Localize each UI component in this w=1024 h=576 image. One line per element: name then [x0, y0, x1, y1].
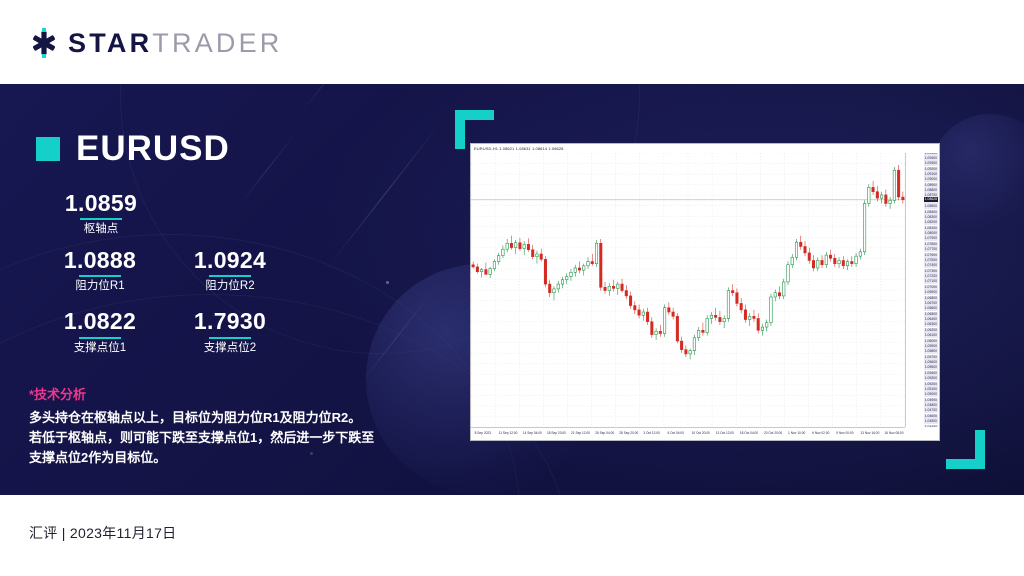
chart-price-axis[interactable]: 1.095001.094001.093001.092001.091001.090…: [905, 153, 939, 427]
level-r2-rule: [209, 275, 251, 277]
price-axis-tick: 1.09200: [924, 167, 938, 172]
level-r1-value: 1.0888: [40, 247, 160, 273]
time-axis-tick: 9 Nov 00:00: [836, 431, 853, 436]
level-s2-label: 支撑点位2: [170, 342, 290, 356]
price-axis-tick: 1.05200: [924, 382, 938, 387]
price-axis-tick: 1.07300: [924, 269, 938, 274]
analysis-line-3: 支撑点位2作为目标位。: [29, 448, 409, 468]
price-axis-tick: 1.05000: [924, 392, 938, 397]
price-axis-tick: 1.08200: [924, 220, 938, 225]
time-axis-tick: 13 Oct 12:00: [716, 431, 734, 436]
time-axis-tick: 14 Sep 04:00: [523, 431, 542, 436]
price-axis-tick: 1.05800: [924, 349, 938, 354]
price-axis-tick: 1.06000: [924, 339, 938, 344]
time-axis-tick: 3 Oct 12:00: [643, 431, 659, 436]
time-axis-tick: 18 Sep 20:00: [547, 431, 566, 436]
time-axis-tick: 20 Oct 20:00: [764, 431, 782, 436]
analysis-line-1: 多头持仓在枢轴点以上，目标位为阻力位R1及阻力位R2。: [29, 408, 409, 428]
level-r2: 1.0924 阻力位R2: [170, 247, 290, 294]
level-pivot: 1.0859 枢轴点: [55, 190, 147, 237]
price-axis-tick: 1.05600: [924, 360, 938, 365]
analysis-line-2: 若低于枢轴点，则可能下跌至支撑点位1，然后进一步下跌至: [29, 428, 409, 448]
level-r1: 1.0888 阻力位R1: [40, 247, 160, 294]
level-r2-label: 阻力位R2: [170, 280, 290, 294]
price-axis-tick: 1.06300: [924, 322, 938, 327]
level-s1: 1.0822 支撑点位1: [40, 308, 160, 355]
price-axis-tick: 1.06900: [924, 290, 938, 295]
price-axis-tick: 1.08300: [924, 215, 938, 220]
info-column: EURUSD 1.0859 枢轴点 1.0888 阻力位R1 1.0924 阻力…: [0, 84, 430, 495]
level-pivot-rule: [80, 218, 122, 220]
instrument-symbol: EURUSD: [76, 131, 230, 166]
levels-grid: 1.0888 阻力位R1 1.0924 阻力位R2 1.0822 支撑点位1: [40, 247, 290, 369]
price-axis-tick: 1.06400: [924, 317, 938, 322]
price-axis-tick: 1.04400: [924, 425, 938, 428]
footer-caption: 汇评 | 2023年11月17日: [29, 523, 176, 543]
price-axis-tick: 1.05400: [924, 371, 938, 376]
time-axis-tick: 21 Sep 12:00: [571, 431, 590, 436]
brand-name-light: TRADER: [152, 28, 282, 58]
technical-analysis: *技术分析 多头持仓在枢轴点以上，目标位为阻力位R1及阻力位R2。 若低于枢轴点…: [29, 384, 409, 468]
price-axis-tick: 1.07600: [924, 253, 938, 258]
page-footer: 汇评 | 2023年11月17日: [0, 495, 1024, 576]
price-axis-tick: 1.08900: [924, 183, 938, 188]
price-axis-tick: 1.04600: [924, 414, 938, 419]
price-axis-tick: 1.06100: [924, 333, 938, 338]
level-pivot-value: 1.0859: [55, 190, 147, 216]
price-axis-tick: 1.06500: [924, 312, 938, 317]
instrument-title: EURUSD: [36, 131, 230, 166]
chart-ohlc-header: EURUSD,H1 1.08621 1.08631 1.08614 1.0862…: [471, 144, 939, 153]
analysis-heading: *技术分析: [29, 384, 409, 403]
price-axis-tick: 1.06600: [924, 306, 938, 311]
corner-bracket-bottom-right: [946, 430, 985, 469]
level-r2-value: 1.0924: [170, 247, 290, 273]
level-s1-value: 1.0822: [40, 308, 160, 334]
time-axis-tick: 28 Sep 20:00: [619, 431, 638, 436]
price-axis-tick: 1.08400: [924, 210, 938, 215]
price-axis-tick: 1.08100: [924, 226, 938, 231]
time-axis-tick: 18 Oct 04:00: [740, 431, 758, 436]
chart-plot-area[interactable]: [471, 153, 905, 427]
price-axis-tick: 1.05100: [924, 387, 938, 392]
chart-time-axis[interactable]: 8 Sep 202311 Sep 12:0014 Sep 04:0018 Sep…: [471, 427, 905, 440]
price-axis-tick: 1.06700: [924, 301, 938, 306]
logo-accent-square-bottom: [42, 54, 46, 58]
time-axis-tick: 8 Sep 2023: [475, 431, 491, 436]
resistance-row: 1.0888 阻力位R1 1.0924 阻力位R2: [40, 247, 290, 294]
time-axis-tick: 6 Nov 02:00: [812, 431, 829, 436]
price-axis-tick: 1.05300: [924, 376, 938, 381]
price-axis-tick: 1.06800: [924, 296, 938, 301]
price-axis-tick: 1.09100: [924, 172, 938, 177]
price-axis-tick: 1.08500: [924, 204, 938, 209]
price-axis-tick: 1.05500: [924, 365, 938, 370]
logo-accent-square-top: [42, 28, 46, 32]
time-axis-tick: 6 Oct 04:00: [668, 431, 684, 436]
price-axis-tick: 1.09000: [924, 177, 938, 182]
support-row: 1.0822 支撑点位1 1.7930 支撑点位2: [40, 308, 290, 355]
candlestick-series: [471, 153, 905, 427]
level-s1-rule: [79, 337, 121, 339]
price-axis-tick: 1.07400: [924, 263, 938, 268]
price-axis-tick: 1.08800: [924, 188, 938, 193]
price-axis-tick: 1.07500: [924, 258, 938, 263]
current-price-tick: 1.08628: [924, 197, 938, 202]
time-axis-tick: 1 Nov 10:00: [788, 431, 805, 436]
price-axis-tick: 1.09400: [924, 156, 938, 161]
title-accent-square: [36, 137, 60, 161]
price-axis-tick: 1.04900: [924, 398, 938, 403]
price-axis-tick: 1.04700: [924, 408, 938, 413]
price-axis-tick: 1.08000: [924, 231, 938, 236]
price-axis-tick: 1.05700: [924, 355, 938, 360]
price-axis-tick: 1.06200: [924, 328, 938, 333]
level-r1-rule: [79, 275, 121, 277]
trading-chart[interactable]: EURUSD,H1 1.08621 1.08631 1.08614 1.0862…: [470, 143, 940, 441]
price-axis-tick: 1.05900: [924, 344, 938, 349]
time-axis-tick: 16 Nov 08:00: [885, 431, 904, 436]
price-axis-tick: 1.04800: [924, 403, 938, 408]
time-axis-tick: 10 Oct 20:00: [692, 431, 710, 436]
level-pivot-label: 枢轴点: [55, 223, 147, 237]
asterisk-star-icon: [29, 28, 59, 58]
price-axis-tick: 1.07000: [924, 285, 938, 290]
level-r1-label: 阻力位R1: [40, 280, 160, 294]
price-axis-tick: 1.09300: [924, 161, 938, 166]
level-s1-label: 支撑点位1: [40, 342, 160, 356]
time-axis-tick: 13 Nov 16:00: [860, 431, 879, 436]
level-s2-value: 1.7930: [170, 308, 290, 334]
price-axis-tick: 1.07100: [924, 279, 938, 284]
price-axis-tick: 1.07900: [924, 236, 938, 241]
time-axis-tick: 26 Sep 04:00: [595, 431, 614, 436]
page-header: STARTRADER: [0, 0, 1024, 84]
level-s2: 1.7930 支撑点位2: [170, 308, 290, 355]
brand-logo[interactable]: STARTRADER: [29, 28, 283, 58]
price-axis-tick: 1.04500: [924, 419, 938, 424]
price-axis-tick: 1.07800: [924, 242, 938, 247]
brand-name: STARTRADER: [68, 30, 283, 57]
level-s2-rule: [209, 337, 251, 339]
brand-name-bold: STAR: [68, 28, 152, 58]
time-axis-tick: 11 Sep 12:00: [499, 431, 518, 436]
price-axis-tick: 1.07700: [924, 247, 938, 252]
price-axis-tick: 1.07200: [924, 274, 938, 279]
